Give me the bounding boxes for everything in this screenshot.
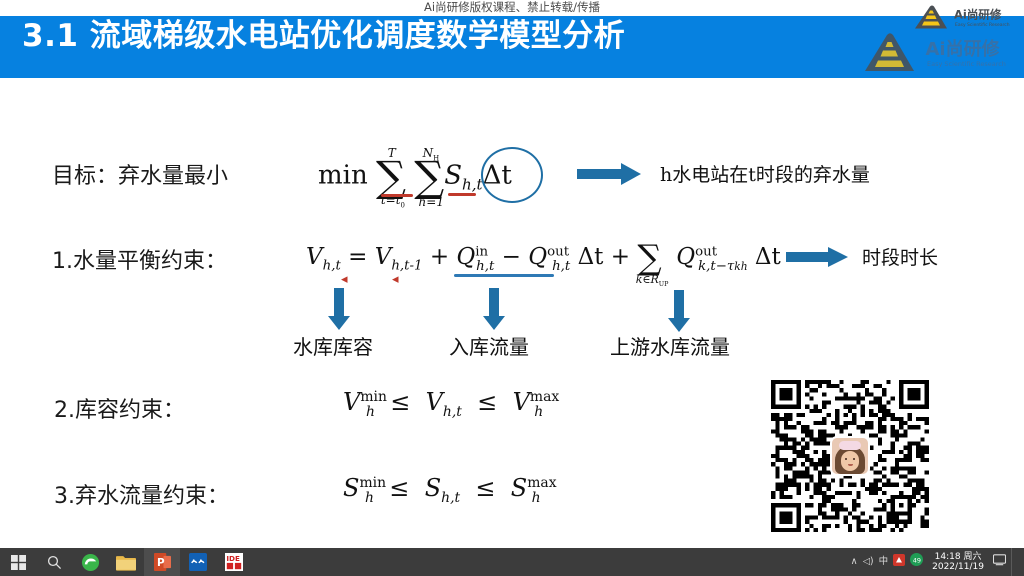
row-label-spill-constraint: 3.弃水流量约束： (54, 478, 229, 510)
windows-taskbar: P IDE ∧ ◁) 中 49 14:18 周六 2022/11/19 (0, 548, 1024, 576)
file-explorer-icon[interactable] (108, 548, 144, 576)
min-operator: min (318, 161, 368, 191)
sum3-lower: k∈RUP (636, 273, 669, 288)
formula-storage-constraint: Vminh ≤ Vh,t ≤ Vmaxh (343, 388, 543, 420)
sum1-upper: T (388, 146, 396, 160)
arrow-callout-upstream (668, 290, 690, 332)
summation-2: ∑NHh=1 (414, 152, 444, 201)
system-tray: ∧ ◁) 中 49 14:18 周六 2022/11/19 (851, 548, 1024, 576)
svg-text:Ai尚研修: Ai尚研修 (926, 38, 1001, 60)
tray-ime-icon[interactable]: 中 (879, 557, 889, 567)
arrow-balance-to-note (786, 247, 850, 267)
show-desktop-button[interactable] (1011, 548, 1020, 576)
slide-canvas: Ai尚研修版权课程、禁止转载/传播 3.1 流域梯级水电站优化调度数学模型分析 … (0, 0, 1024, 548)
sum2-upper: NH (423, 146, 440, 162)
wechat-qr-code[interactable] (771, 380, 929, 532)
sum2-lower: h=1 (419, 195, 444, 209)
blue-app-icon[interactable] (180, 548, 216, 576)
red-mark-2: ◂ (392, 272, 399, 285)
arrow-callout-inflow (483, 288, 505, 330)
svg-text:IDE: IDE (226, 554, 240, 563)
start-button[interactable] (0, 548, 36, 576)
red-underline-1 (381, 194, 413, 197)
tray-app-green-icon[interactable]: 49 (910, 553, 923, 571)
note-timestep: 时段时长 (862, 243, 938, 270)
blue-underline-inflow (454, 274, 554, 277)
red-underline-2 (448, 193, 476, 196)
red-mark-1: ◂ (341, 272, 348, 285)
notification-center-icon[interactable] (993, 553, 1006, 571)
brand-logo-large: Ai尚研修 Easy Scientific Research (858, 28, 1023, 76)
S-symbol: S (444, 161, 462, 191)
formula-spill-constraint: Sminh ≤ Sh,t ≤ Smaxh (343, 474, 541, 506)
qr-avatar (830, 436, 870, 476)
taskbar-icons: P IDE (0, 548, 252, 576)
clock-time: 14:18 周六 (932, 552, 984, 562)
powerpoint-icon[interactable]: P (144, 548, 180, 576)
row-label-objective: 目标：弃水量最小 (52, 158, 228, 190)
formula-water-balance: Vh,t = Vh,t-1 + Qinh,t − Qouth,t Δt + ∑k… (306, 238, 781, 278)
svg-text:P: P (157, 557, 165, 569)
taskbar-clock[interactable]: 14:18 周六 2022/11/19 (928, 552, 988, 572)
ide-app-icon[interactable]: IDE (216, 548, 252, 576)
circle-annotation-spill (481, 147, 543, 203)
row-label-storage-constraint: 2.库容约束： (54, 392, 185, 424)
callout-label-upstream: 上游水库流量 (610, 331, 730, 360)
svg-text:Easy Scientific Research: Easy Scientific Research (927, 60, 1006, 68)
edge-browser-icon[interactable] (72, 548, 108, 576)
callout-label-capacity: 水库库容 (293, 331, 373, 360)
svg-text:49: 49 (913, 556, 921, 564)
tray-volume-icon[interactable]: ◁) (863, 557, 874, 567)
arrow-callout-capacity (328, 288, 350, 330)
tray-app-red-icon[interactable] (893, 553, 905, 571)
tray-chevron-icon[interactable]: ∧ (851, 557, 858, 567)
note-objective: h水电站在t时段的弃水量 (660, 160, 870, 187)
summation-3: ∑k∈RUP (637, 238, 661, 278)
clock-date: 2022/11/19 (932, 562, 984, 572)
svg-text:Ai尚研修: Ai尚研修 (954, 8, 1002, 22)
page-title: 3.1 流域梯级水电站优化调度数学模型分析 (22, 10, 625, 55)
arrow-objective-to-note (577, 163, 643, 185)
search-button[interactable] (36, 548, 72, 576)
callout-label-inflow: 入库流量 (449, 331, 529, 360)
row-label-water-balance: 1.水量平衡约束： (52, 243, 227, 275)
